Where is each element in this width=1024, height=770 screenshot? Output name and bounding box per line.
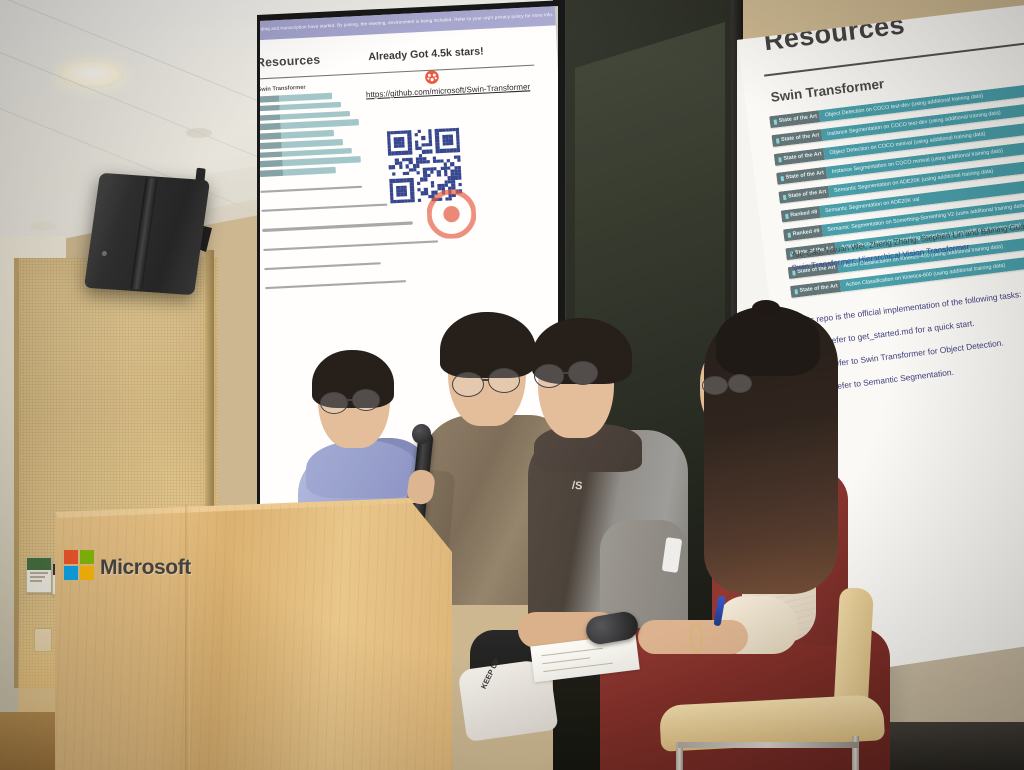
panelist-3-glasses-left-icon (534, 364, 564, 388)
panelist-3-hoodie-print: /S (572, 480, 583, 493)
right-slide-section-heading: Swin Transformer (770, 76, 885, 105)
panelist-1-hood (306, 440, 418, 498)
github-repo-link[interactable]: https://github.com/microsoft/Swin-Transf… (366, 82, 531, 100)
speaker-led-icon (102, 251, 108, 256)
badge-rank: State of the Art (771, 129, 823, 147)
badge-bar-icon (774, 119, 777, 124)
left-slide-badge (256, 93, 333, 103)
panelist-1-glasses-right-icon (352, 389, 380, 411)
recessed-downlight-tertiary (30, 222, 56, 231)
stars-headline: Already Got 4.5k stars! (368, 46, 484, 63)
left-slide-badge (258, 139, 343, 149)
badge-rank: Ranked #8 (781, 206, 821, 223)
badge-rank: State of the Art (774, 148, 826, 166)
badge-rank: State of the Art (776, 167, 828, 185)
badge-bar-icon (794, 289, 797, 294)
wall-notice (26, 557, 52, 593)
left-slide-section-heading: Swin Transformer (257, 84, 306, 93)
badge-rank: State of the Art (769, 110, 821, 128)
badge-bar-icon (787, 232, 790, 237)
panelist-2-glasses-right-icon (488, 368, 520, 393)
panelist-1-glasses-left-icon (320, 392, 348, 414)
microsoft-four-square-logo (64, 550, 98, 584)
speaker-band (130, 178, 158, 290)
panelist-3-glasses-right-icon (568, 361, 598, 385)
notice-header (27, 558, 51, 570)
badge-bar-icon (778, 157, 781, 162)
left-slide-bullet (261, 204, 387, 213)
conference-room-photo: Recording and transcription have started… (0, 0, 1024, 770)
lectern-wood-grain (55, 500, 452, 770)
badge-rank: State of the Art (778, 186, 830, 204)
panelist-2-glasses-bridge (482, 379, 489, 381)
left-slide-badge (257, 119, 359, 130)
left-slide-bullet (262, 222, 412, 232)
panelist-4-glasses-right-icon (728, 374, 752, 393)
notice-line (30, 576, 45, 578)
github-octocat-mark-icon (424, 69, 440, 85)
github-logo-watermark-icon (426, 189, 477, 240)
panelist-2-glasses-left-icon (452, 372, 484, 397)
notice-line (30, 580, 42, 582)
left-slide-title: Resources (256, 54, 321, 70)
right-slide-title: Resources (762, 9, 906, 57)
left-slide-bullet (265, 280, 406, 289)
left-slide-badge (256, 102, 341, 112)
left-slide-badge (259, 157, 361, 168)
panelist-3-glasses-bridge (562, 372, 569, 374)
panelist-4-hair-top (716, 306, 820, 376)
panelist-4-hair-bun (752, 300, 780, 316)
recessed-downlight-icon (58, 62, 124, 88)
left-slide-badge-list (256, 91, 364, 180)
left-slide-badge (259, 167, 336, 177)
panelist-4-bracelet (690, 622, 703, 654)
lectern-corner-edge (185, 505, 190, 770)
chair-leg-rail (678, 742, 858, 748)
badge-bar-icon (776, 138, 779, 143)
panelist-4-glasses-left-icon (702, 376, 728, 395)
left-slide-bullet (263, 240, 438, 251)
microsoft-wordmark: Microsoft (100, 556, 191, 580)
badge-bar-icon (783, 194, 786, 199)
left-slide-bullet (264, 262, 381, 270)
left-slide-badge (258, 130, 335, 140)
badge-bar-icon (785, 213, 788, 218)
badge-bar-icon (781, 176, 784, 181)
badge-rank: Ranked #9 (783, 225, 823, 242)
ceiling-speaker (84, 173, 210, 296)
badge-rank: State of the Art (790, 280, 842, 298)
notice-line (30, 572, 48, 574)
left-slide-bullet (260, 186, 362, 193)
panelist-1-glasses-bridge (346, 399, 353, 401)
